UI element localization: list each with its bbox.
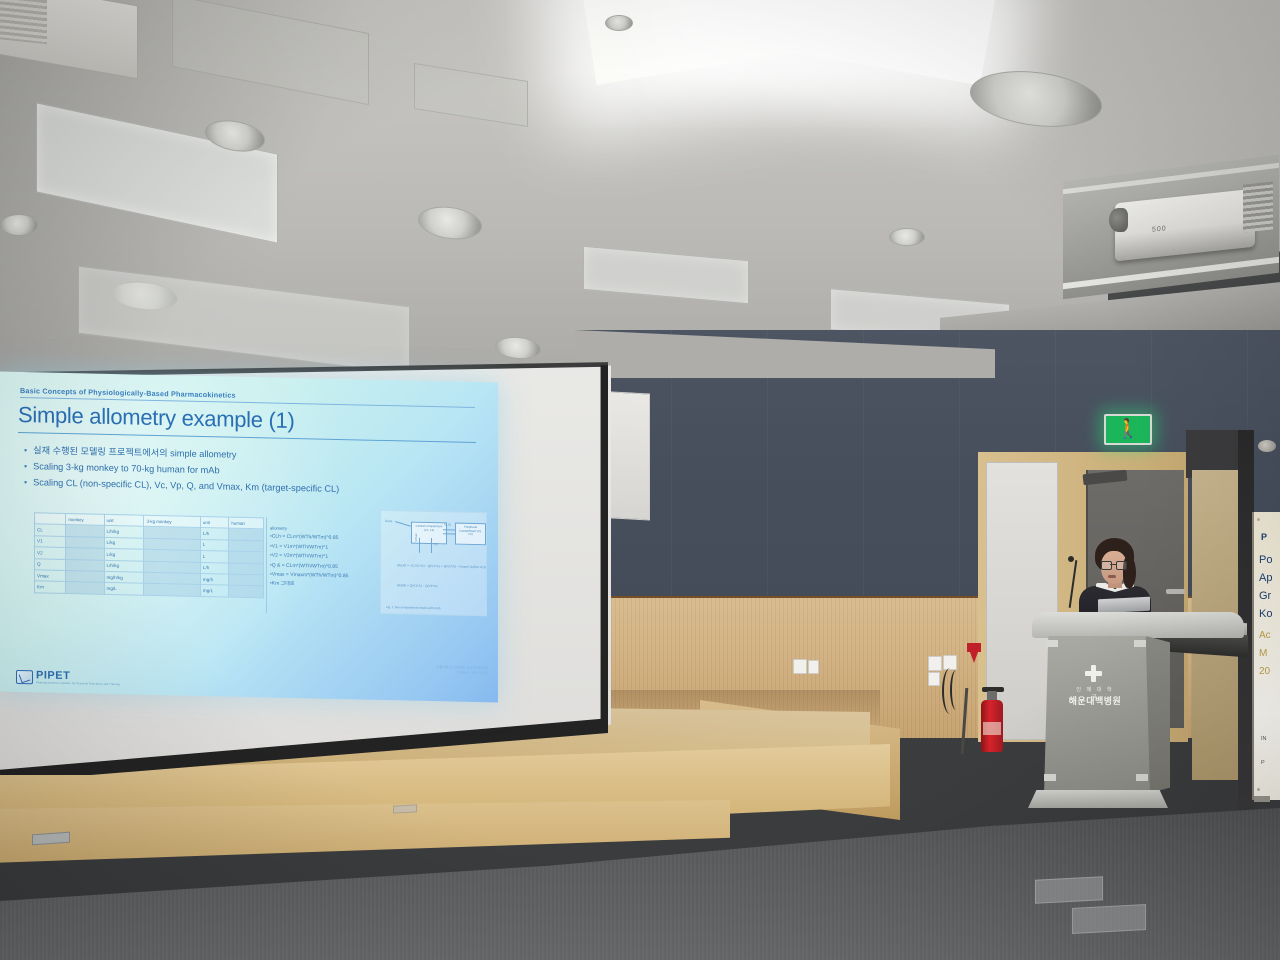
figure-q-label: Q, Q	[444, 522, 451, 526]
podium-corner-trim-tl	[1046, 640, 1058, 647]
podium-front-panel	[1044, 636, 1150, 796]
extinguisher-label	[983, 722, 1001, 735]
slide-bullet-list: • 실재 수행된 모델링 프로젝트에서의 simple allometry • …	[24, 442, 484, 500]
presenter-mouth	[1108, 575, 1116, 578]
arrow-sign-bar	[967, 643, 981, 652]
slide-title: Simple allometry example (1)	[18, 402, 294, 434]
table-cell: V2	[35, 547, 66, 559]
glasses-icon	[1101, 561, 1126, 568]
table-cell	[229, 540, 264, 552]
wall-outlet-plate-5[interactable]	[928, 672, 940, 686]
figure-dose-label: Dose	[385, 519, 392, 523]
banner-line-3: Gr	[1259, 590, 1271, 602]
banner-line-1: Po	[1259, 554, 1272, 566]
table-cell: mg/L	[104, 583, 144, 595]
banner-gold-line-3: 20	[1259, 666, 1270, 677]
banner-footer-line-2: P	[1261, 760, 1265, 766]
wall-outlet-plate-3[interactable]	[928, 656, 942, 671]
pipet-logo-subtitle: Pharmacometrics Institute for Practical …	[36, 681, 120, 686]
banner-grommet-top	[1257, 518, 1260, 521]
table-body: CL L/h/kg L/h V1 L/kg L	[35, 524, 264, 597]
event-banner: P Po Ap Gr Ko Ac M 20 IN P	[1252, 512, 1280, 800]
emergency-exit-sign: 🚶	[1104, 414, 1152, 445]
formula-divider	[266, 517, 267, 613]
table-cell: L/h	[200, 562, 229, 574]
table-cell: L/kg	[104, 548, 144, 560]
formula-line: •Km 그대로	[270, 580, 375, 592]
figure-vmax-label: Vmax	[414, 533, 418, 541]
stage-floor-outlet	[393, 804, 417, 813]
podium-org-large-text: 해운대백병원	[1066, 694, 1124, 707]
floor-access-panel-2	[1072, 904, 1146, 934]
ceiling-downlight-6	[889, 228, 925, 246]
table-cell: L	[200, 551, 229, 563]
podium-base	[1028, 790, 1168, 808]
table-cell	[66, 570, 104, 582]
wall-outlet-plate-1[interactable]	[793, 659, 807, 674]
banner-grommet-bottom	[1257, 788, 1260, 791]
banner-gold-line-1: Ac	[1259, 630, 1271, 641]
table-cell: Vmax	[35, 570, 66, 582]
podium-side-panel	[1146, 636, 1170, 794]
ceiling-sensor	[1258, 440, 1276, 452]
banner-gold-line-2: M	[1259, 648, 1267, 659]
table-cell	[229, 551, 264, 563]
glasses-right-lens	[1116, 561, 1127, 570]
table-cell	[66, 536, 104, 548]
air-conditioner-grill	[0, 0, 47, 44]
table-cell: L	[200, 539, 229, 551]
table-cell	[66, 525, 104, 537]
slide-model-figure: Dose Central Compartment (V1, C1) Q, Q P…	[380, 510, 487, 616]
table-cell	[229, 528, 264, 540]
bullet-dot-icon: •	[24, 458, 27, 474]
table-cell: L/h/kg	[104, 526, 144, 538]
banner-line-2: Ap	[1259, 572, 1272, 584]
table-cell	[229, 563, 264, 575]
figure-vmax-arrow	[431, 538, 432, 553]
door-handle[interactable]	[1166, 589, 1185, 594]
table-cell: L/h/kg	[104, 560, 144, 572]
figure-peripheral-compartment-box: Peripheral Compartment (V2, C2)	[455, 523, 486, 546]
table-cell	[66, 559, 104, 571]
projection-screen: Basic Concepts of Physiologically-Based …	[0, 355, 608, 775]
fire-equipment-arrow-sign	[967, 643, 981, 665]
table-cell: V1	[35, 536, 66, 548]
table-cell: mg/L	[200, 585, 229, 597]
figure-cl-arrow	[419, 538, 420, 553]
ceiling-downlight-3	[605, 15, 633, 31]
ceiling-downlight-1	[0, 214, 38, 236]
lecture-hall-photo: 500 🚶 P Po Ap Gr Ko Ac	[0, 0, 1280, 960]
table-cell: L/h	[200, 528, 229, 540]
bullet-dot-icon: •	[24, 442, 27, 458]
banner-stand-foot	[1254, 796, 1270, 802]
slide-credit-line: 이에서 고 해당 데이터	[436, 670, 488, 676]
figure-equation-2: dA2/dt = Q/V1*A1 - Q/V2*A2	[397, 583, 438, 588]
table-cell	[229, 585, 264, 597]
figure-equation-1: dA1/dt = -CL/V1*A1 - Q/V1*A1 + Q/V2*A2 -…	[397, 563, 486, 569]
down-arrow-icon	[970, 652, 978, 663]
podium-corner-trim-tr	[1134, 640, 1146, 647]
figure-caption: Fig. 1 Two-compartment model with mAb	[386, 605, 440, 610]
table-cell: L/kg	[104, 537, 144, 549]
power-cable-2	[950, 670, 962, 710]
podium-corner-trim-br	[1136, 774, 1148, 781]
projector-lens	[1109, 208, 1128, 232]
projector-vent	[1243, 181, 1273, 232]
table-cell: mg/h	[200, 573, 229, 585]
table-header-cell	[35, 513, 66, 525]
table-cell: Q	[35, 558, 66, 570]
podium-corner-trim-bl	[1044, 774, 1056, 781]
slide-logo: PIPET Pharmacometrics Institute for Prac…	[16, 670, 120, 686]
table-header-cell: human	[229, 517, 264, 529]
bullet-dot-icon: •	[24, 474, 27, 490]
table-cell: CL	[35, 524, 66, 536]
podium-top-surface	[1032, 612, 1244, 638]
slide-credit-block: 서울대학교 의과대학 임상약리학교실 이에서 고 해당 데이터	[436, 665, 488, 676]
pipet-logo-icon	[16, 670, 33, 684]
banner-line-4: Ko	[1259, 608, 1272, 620]
slide-title-rule	[18, 432, 476, 443]
slide-formula-block: allometry •CLh = CLm*(WTh/WTm)^0.85 •V1 …	[270, 523, 375, 591]
glasses-left-lens	[1101, 561, 1112, 570]
table-cell: Km	[35, 581, 66, 593]
table-header-cell: unit	[104, 514, 144, 526]
wall-outlet-plate-2[interactable]	[808, 660, 819, 674]
banner-footer-line-1: IN	[1261, 736, 1267, 742]
table-cell	[66, 582, 104, 594]
floor-access-panel-1	[1035, 876, 1103, 904]
table-header-cell: unit	[200, 516, 229, 528]
table-cell	[144, 583, 200, 596]
figure-cl-label: CL	[434, 542, 438, 546]
table-cell: mg/h/kg	[104, 571, 144, 583]
slide-parameter-table: monkey unit 3-kg monkey unit human CL L/…	[34, 512, 264, 598]
projected-slide: Basic Concepts of Physiologically-Based …	[0, 372, 498, 703]
table-cell	[66, 548, 104, 560]
running-person-exit-icon: 🚶	[1116, 420, 1140, 439]
figure-dose-arrow	[395, 521, 411, 526]
table-header-cell: monkey	[66, 513, 104, 525]
hospital-cross-icon	[1085, 665, 1102, 682]
presenter-laptop[interactable]	[1098, 597, 1150, 614]
microphone-head	[1068, 556, 1074, 562]
pipet-logo-text-group: PIPET Pharmacometrics Institute for Prac…	[36, 670, 120, 686]
table-cell	[229, 574, 264, 586]
banner-title: P	[1261, 532, 1267, 542]
